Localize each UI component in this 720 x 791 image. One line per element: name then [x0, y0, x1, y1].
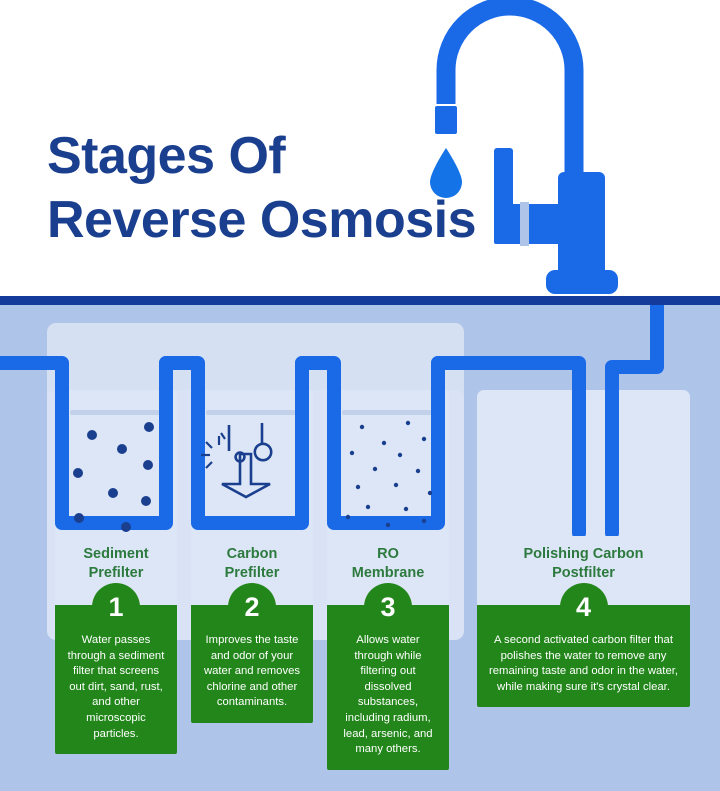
- stage-column-4[interactable]: Polishing Carbon Postfilter 4 A second a…: [477, 536, 690, 707]
- header-section: Stages Of Reverse Osmosis: [0, 0, 720, 296]
- stage-number-3: 3: [364, 585, 412, 629]
- stage-column-2[interactable]: Carbon Prefilter 2 Improves the taste an…: [191, 536, 313, 723]
- stage-card-1: 1 Water passes through a sediment filter…: [55, 605, 177, 754]
- water-drop-icon: [430, 148, 462, 198]
- tiny-particles-icon: [346, 421, 432, 527]
- stage-number-4: 4: [560, 585, 608, 629]
- countertop-band: [0, 296, 720, 305]
- infographic-root: Stages Of Reverse Osmosis: [0, 0, 720, 791]
- stage-card-3: 3 Allows water through while filtering o…: [327, 605, 449, 770]
- stage-card-4: 4 A second activated carbon filter that …: [477, 605, 690, 707]
- stage-column-1[interactable]: Sediment Prefilter 1 Water passes throug…: [55, 536, 177, 754]
- stage-description-3: Allows water through while filtering out…: [327, 605, 449, 770]
- large-particles-icon: [73, 422, 154, 532]
- stage-column-3[interactable]: RO Membrane 3 Allows water through while…: [327, 536, 449, 770]
- down-arrow-blocking-particles-icon: [201, 423, 271, 497]
- stage-number-1: 1: [92, 585, 140, 629]
- faucet-icon: [398, 0, 720, 306]
- stage-card-2: 2 Improves the taste and odor of your wa…: [191, 605, 313, 723]
- stage-number-2: 2: [228, 585, 276, 629]
